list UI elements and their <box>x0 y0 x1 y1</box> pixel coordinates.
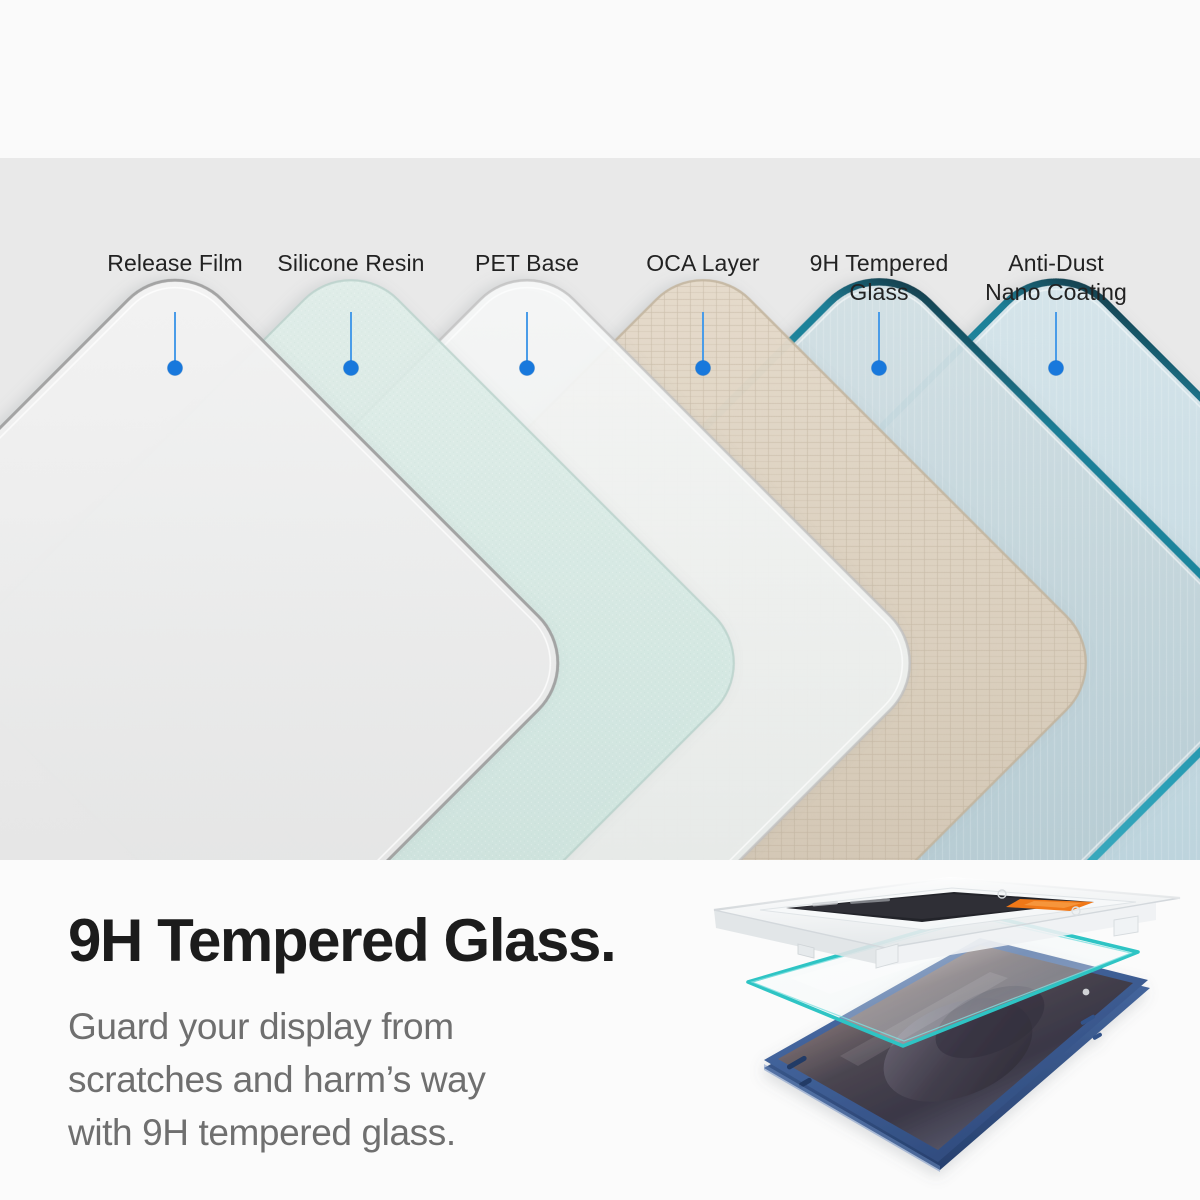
page-headline: 9H Tempered Glass. <box>68 905 615 977</box>
layer-label-release-film: Release Film <box>107 249 242 278</box>
layer-label-9h-tempered-glass: 9H Tempered Glass <box>810 249 949 307</box>
callout-silicone-resin: Silicone Resin <box>277 249 424 278</box>
layer-dot-pet-base[interactable] <box>520 361 535 376</box>
layer-dot-silicone-resin[interactable] <box>344 361 359 376</box>
callout-pet-base: PET Base <box>475 249 579 278</box>
layer-label-silicone-resin: Silicone Resin <box>277 249 424 278</box>
layer-dot-9h-tempered-glass[interactable] <box>872 361 887 376</box>
subcopy-line-1: Guard your display from <box>68 1000 628 1053</box>
page-subcopy: Guard your display from scratches and ha… <box>68 1000 628 1159</box>
product-shot <box>690 870 1200 1200</box>
product-feature-image: Release Film Silicone Resin PET Base OCA… <box>0 0 1200 1200</box>
layer-diagram-panel: Release Film Silicone Resin PET Base OCA… <box>0 0 1200 860</box>
callout-release-film: Release Film <box>107 249 242 278</box>
product-illustration <box>690 870 1200 1200</box>
callout-oca-layer: OCA Layer <box>646 249 759 278</box>
layer-dot-oca-layer[interactable] <box>696 361 711 376</box>
layer-label-anti-dust-nano-coating: Anti-Dust Nano Coating <box>985 249 1127 307</box>
layer-dot-release-film[interactable] <box>168 361 183 376</box>
layer-label-oca-layer: OCA Layer <box>646 249 759 278</box>
callout-anti-dust-nano-coating: Anti-Dust Nano Coating <box>985 249 1127 307</box>
subcopy-line-2: scratches and harm’s way <box>68 1053 628 1106</box>
callout-9h-tempered-glass: 9H Tempered Glass <box>810 249 949 307</box>
layer-label-pet-base: PET Base <box>475 249 579 278</box>
layer-dot-anti-dust-nano-coating[interactable] <box>1049 361 1064 376</box>
subcopy-line-3: with 9H tempered glass. <box>68 1106 628 1159</box>
